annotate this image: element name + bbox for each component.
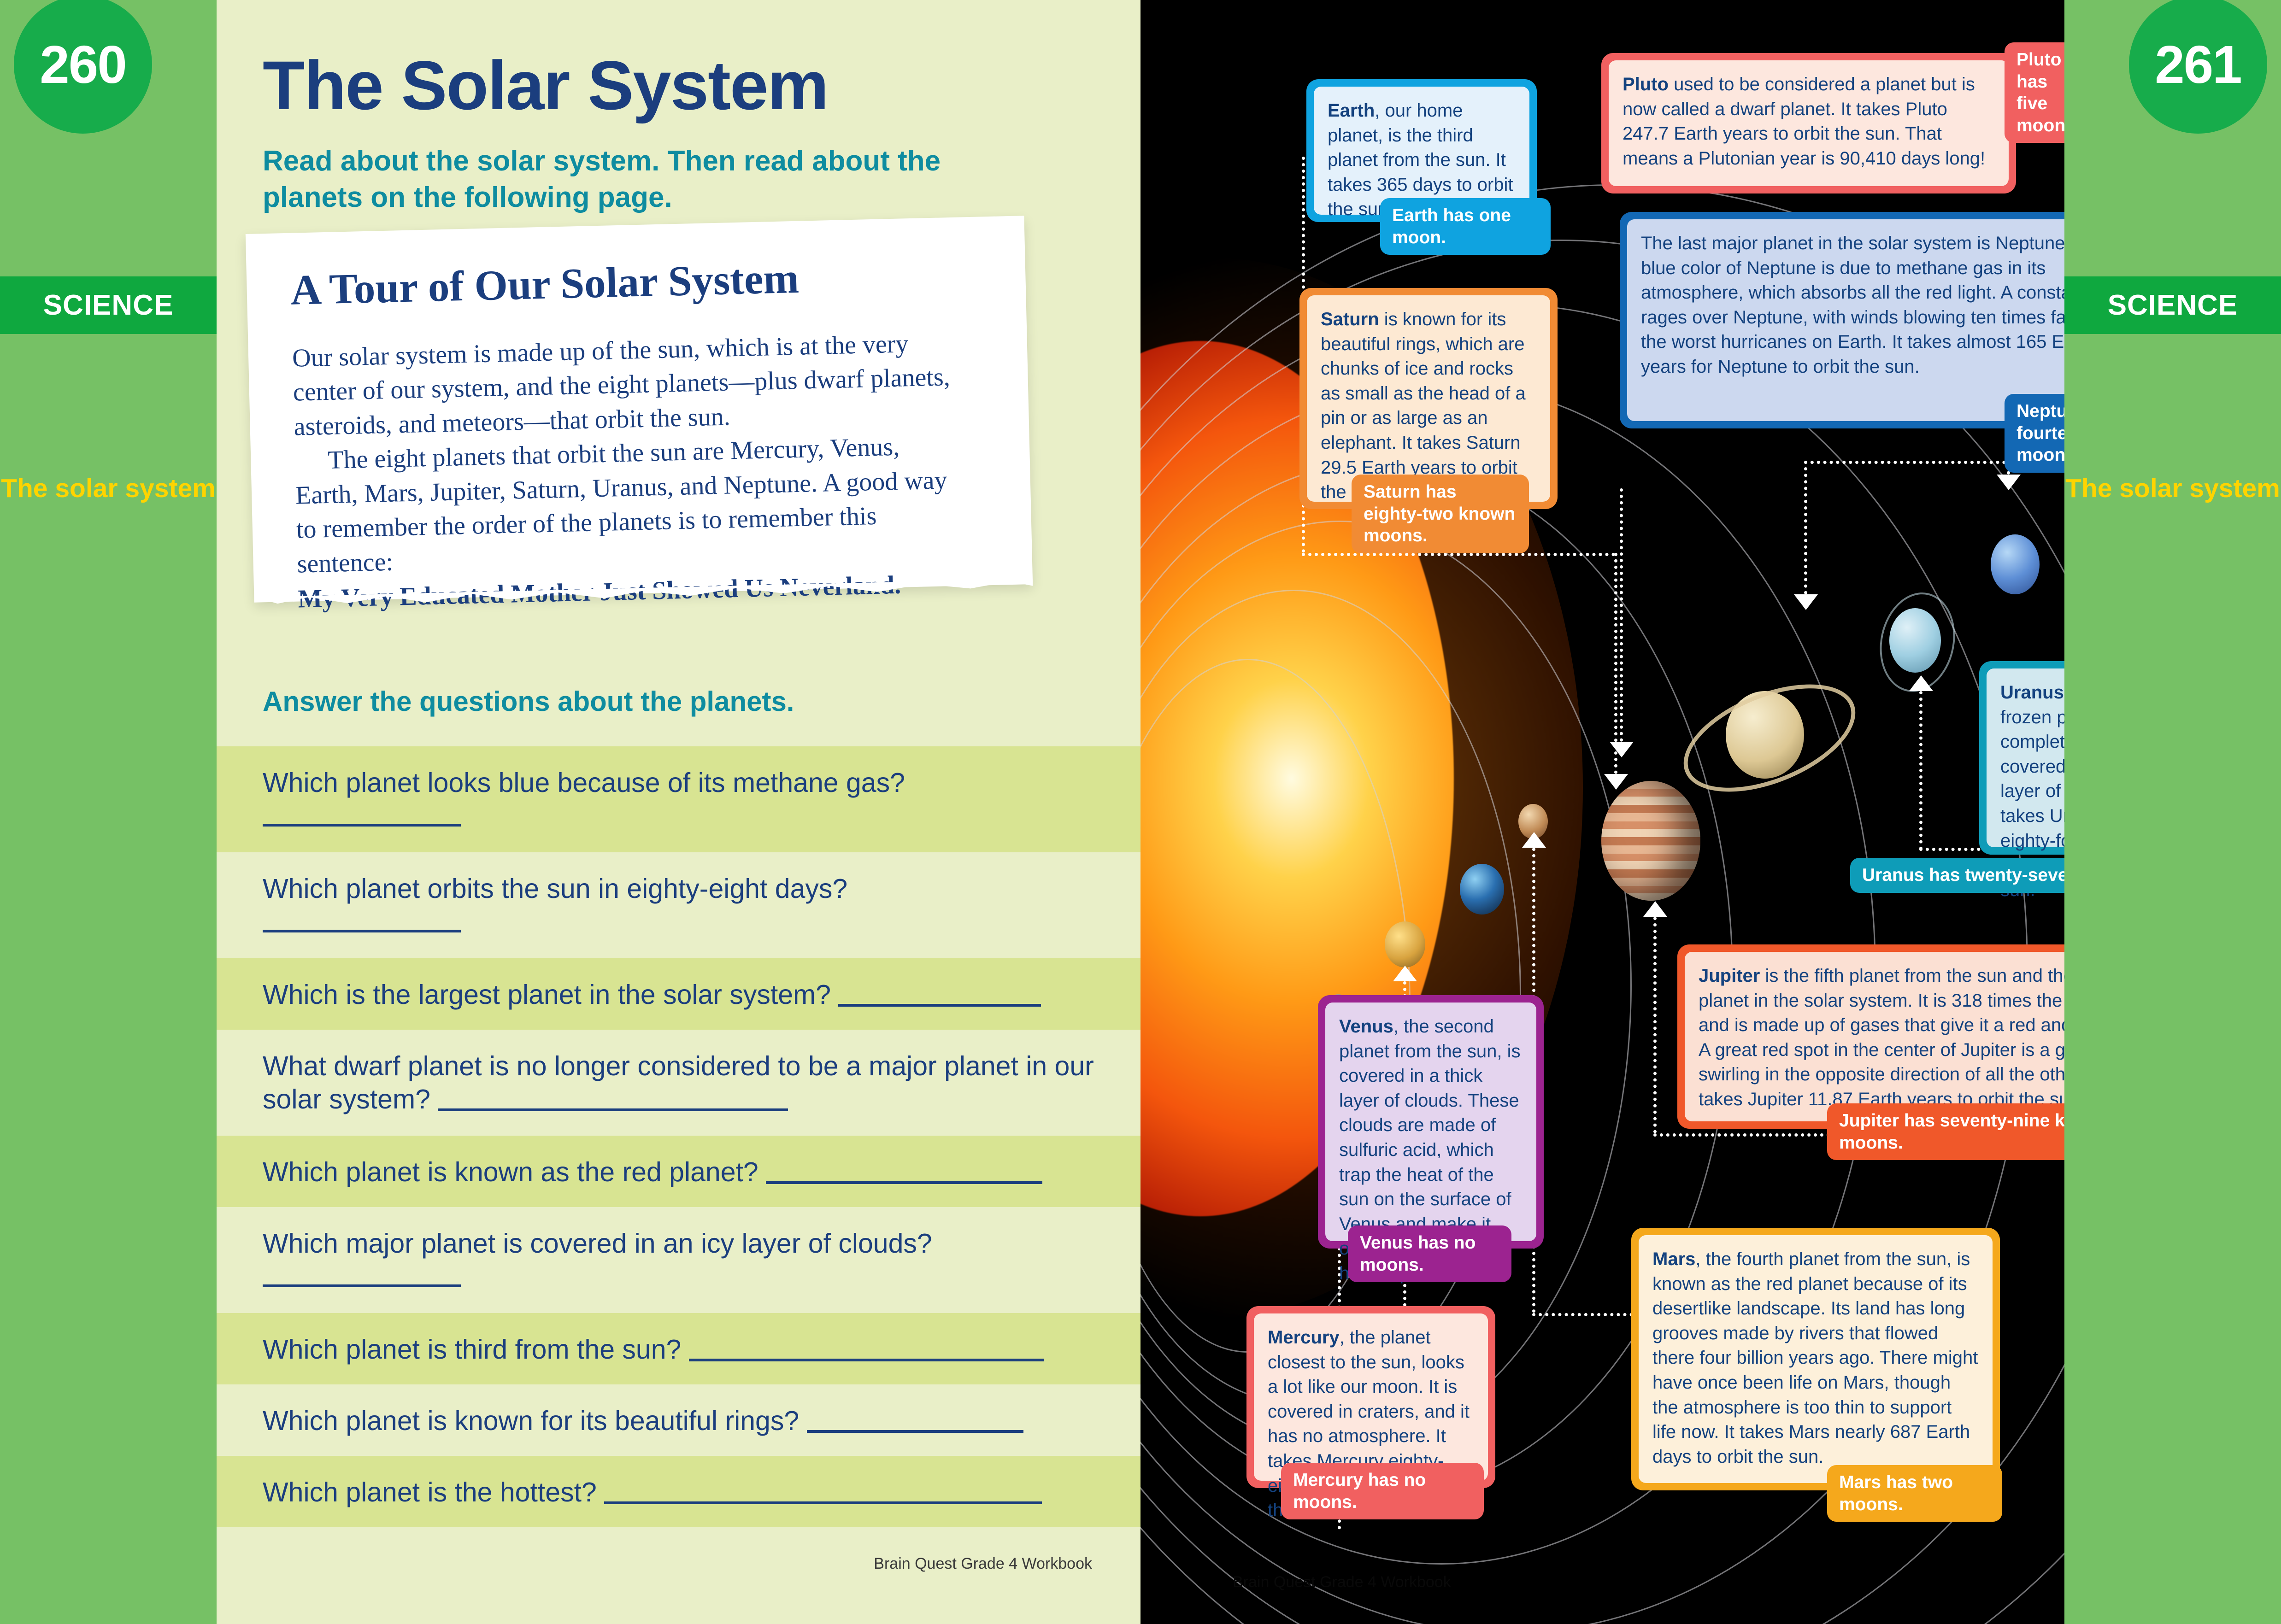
answer-blank[interactable] xyxy=(263,1284,461,1287)
story-paragraph-2: The eight planets that orbit the sun are… xyxy=(294,428,970,581)
arrow-neptune xyxy=(1997,475,2021,490)
connector-neptune-v xyxy=(1804,461,1807,594)
question-text: What dwarf planet is no longer considere… xyxy=(263,1050,1094,1116)
arrow-saturn xyxy=(1610,742,1634,757)
callout-pluto-inner: Pluto used to be considered a planet but… xyxy=(1609,60,2009,186)
connector-saturn xyxy=(1620,488,1623,742)
question-text: Which planet is known for its beautiful … xyxy=(263,1405,1094,1438)
callout-mercury-lead: Mercury xyxy=(1268,1327,1340,1348)
left-rail xyxy=(0,0,217,1624)
story-paragraph-1: Our solar system is made up of the sun, … xyxy=(292,329,950,441)
page-number-left: 260 xyxy=(14,0,152,134)
planet-venus xyxy=(1385,921,1425,967)
badge-venus-moons: Venus has no moons. xyxy=(1348,1225,1511,1282)
connector-uranus-v xyxy=(1919,691,1922,850)
badge-earth-moons: Earth has one moon. xyxy=(1380,198,1551,255)
callout-mars-text: Mars, the fourth planet from the sun, is… xyxy=(1652,1247,1979,1469)
answer-blank[interactable] xyxy=(438,1087,788,1111)
arrow-earth xyxy=(1604,774,1628,790)
callout-venus-lead: Venus xyxy=(1339,1016,1393,1037)
callout-pluto-text: Pluto used to be considered a planet but… xyxy=(1623,72,1995,171)
question-row: Which is the largest planet in the solar… xyxy=(217,958,1140,1030)
question-text: Which planet is third from the sun? xyxy=(263,1333,1094,1366)
callout-mars[interactable]: Mars, the fourth planet from the sun, is… xyxy=(1631,1228,2000,1490)
answer-blank[interactable] xyxy=(689,1337,1044,1361)
left-page-body: The Solar System Read about the solar sy… xyxy=(217,0,1140,1624)
topic-label-right: The solar system xyxy=(2064,475,2281,503)
answer-blank[interactable] xyxy=(604,1480,1042,1504)
callout-saturn-lead: Saturn xyxy=(1321,309,1379,329)
callout-jupiter-lead: Jupiter xyxy=(1699,966,1760,986)
callout-saturn-body: is known for its beautiful rings, which … xyxy=(1321,309,1526,502)
story-card: A Tour of Our Solar System Our solar sys… xyxy=(246,216,1033,603)
callout-uranus-lead: Uranus xyxy=(2000,682,2064,703)
callout-earth-inner: Earth, our home planet, is the third pla… xyxy=(1314,87,1529,215)
answer-blank[interactable] xyxy=(766,1160,1042,1184)
planet-neptune xyxy=(1991,534,2040,594)
badge-pluto-moons: Pluto has five moons. xyxy=(2005,42,2074,143)
question-text: Which planet is known as the red planet? xyxy=(263,1156,1094,1189)
right-page: Earth, our home planet, is the third pla… xyxy=(1140,0,2281,1624)
question-row: Which planet looks blue because of its m… xyxy=(217,746,1140,852)
arrow-jupiter xyxy=(1643,901,1667,917)
callout-neptune-body: The last major planet in the solar syste… xyxy=(1641,233,2138,377)
answer-blank[interactable] xyxy=(838,983,1041,1007)
arrow-neptune-left xyxy=(1794,594,1818,610)
question-text: Which planet is the hottest? xyxy=(263,1476,1094,1509)
callout-saturn-inner: Saturn is known for its beautiful rings,… xyxy=(1307,295,1550,502)
callout-mercury[interactable]: Mercury, the planet closest to the sun, … xyxy=(1246,1306,1495,1488)
answer-blank[interactable] xyxy=(263,930,461,932)
question-text: Which planet looks blue because of its m… xyxy=(263,767,1094,800)
callout-venus[interactable]: Venus, the second planet from the sun, i… xyxy=(1318,995,1544,1249)
badge-mercury-moons: Mercury has no moons. xyxy=(1281,1463,1484,1519)
answer-blank[interactable] xyxy=(807,1409,1023,1433)
question-text: Which planet orbits the sun in eighty-ei… xyxy=(263,873,1094,906)
footer-right: Brain Quest Grade 4 Workbook xyxy=(1233,1573,1451,1591)
page-title: The Solar System xyxy=(263,51,1092,120)
badge-mars-moons: Mars has two moons. xyxy=(1827,1465,2002,1522)
question-text: Which major planet is covered in an icy … xyxy=(263,1227,1094,1261)
footer-left: Brain Quest Grade 4 Workbook xyxy=(263,1555,1092,1573)
callout-mars-lead: Mars xyxy=(1652,1249,1695,1269)
left-page: 260 SCIENCE The solar system The Solar S… xyxy=(0,0,1140,1624)
callout-pluto[interactable]: Pluto used to be considered a planet but… xyxy=(1601,53,2016,193)
callout-mercury-inner: Mercury, the planet closest to the sun, … xyxy=(1254,1313,1488,1481)
callout-earth-lead: Earth xyxy=(1328,100,1375,121)
question-row: Which planet is known as the red planet? xyxy=(217,1136,1140,1207)
workbook-spread: 260 SCIENCE The solar system The Solar S… xyxy=(0,0,2281,1624)
badge-saturn-moons: Saturn has eighty-two known moons. xyxy=(1352,475,1529,553)
connector-earth-h xyxy=(1302,553,1615,556)
connector-earth-v2 xyxy=(1614,553,1617,774)
topic-label-left: The solar system xyxy=(0,475,217,503)
question-row: Which planet orbits the sun in eighty-ei… xyxy=(217,852,1140,958)
callout-pluto-body: used to be considered a planet but is no… xyxy=(1623,74,1985,169)
right-rail xyxy=(2064,0,2281,1624)
question-row: Which major planet is covered in an icy … xyxy=(217,1207,1140,1313)
page-number-right: 261 xyxy=(2129,0,2267,134)
answer-blank[interactable] xyxy=(263,824,461,827)
subject-band-right: SCIENCE xyxy=(2064,276,2281,334)
arrow-uranus xyxy=(1909,675,1933,691)
arrow-venus xyxy=(1393,966,1417,981)
arrow-mars xyxy=(1522,832,1546,848)
question-row: Which planet is third from the sun? xyxy=(217,1313,1140,1384)
callout-mars-inner: Mars, the fourth planet from the sun, is… xyxy=(1639,1235,1993,1483)
question-row: Which planet is known for its beautiful … xyxy=(217,1384,1140,1456)
question-row: Which planet is the hottest? xyxy=(217,1456,1140,1527)
callout-pluto-lead: Pluto xyxy=(1623,74,1669,94)
subject-band-left: SCIENCE xyxy=(0,276,217,334)
callout-venus-inner: Venus, the second planet from the sun, i… xyxy=(1325,1003,1536,1241)
story-body: Our solar system is made up of the sun, … xyxy=(292,325,971,616)
questions-header: Answer the questions about the planets. xyxy=(263,686,1000,717)
instruction-prefix: Read about the xyxy=(263,145,477,177)
planet-jupiter xyxy=(1601,781,1700,901)
question-row: What dwarf planet is no longer considere… xyxy=(217,1030,1140,1136)
question-text: Which is the largest planet in the solar… xyxy=(263,979,1094,1012)
instruction-bold: solar system. xyxy=(477,145,659,177)
page-instruction: Read about the solar system. Then read a… xyxy=(263,143,977,216)
story-title: A Tour of Our Solar System xyxy=(290,253,973,312)
callout-mars-body: , the fourth planet from the sun, is kno… xyxy=(1652,1249,1978,1467)
planet-earth xyxy=(1460,864,1504,915)
connector-jupiter-v xyxy=(1653,917,1657,1133)
